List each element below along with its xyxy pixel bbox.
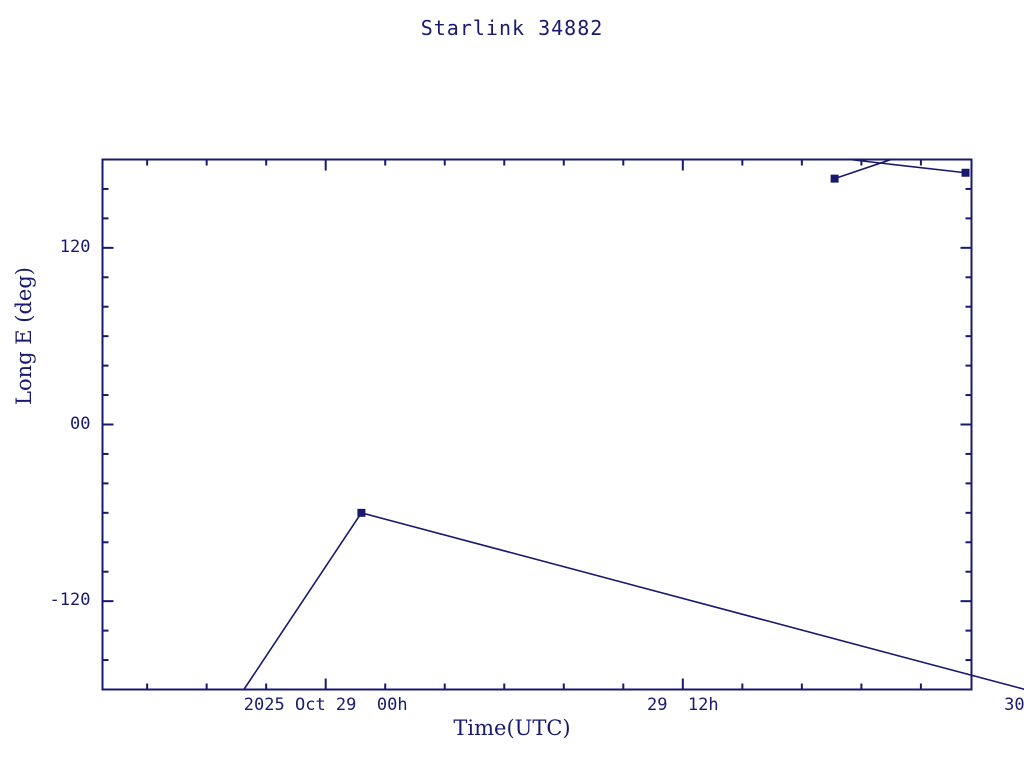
- x-tick-label: 2025 Oct 29 00h: [176, 695, 476, 715]
- y-tick-label: -120: [50, 590, 91, 610]
- data-series-longitude: [244, 160, 1024, 690]
- x-tick-label: 30 00h: [890, 695, 1024, 715]
- chart-plot-area: [0, 0, 1024, 768]
- y-tick-label: 00: [70, 414, 90, 434]
- chart-canvas: Starlink 34882 Time(UTC) Long E (deg) 12…: [0, 0, 1024, 768]
- y-axis-title: Long E (deg): [12, 226, 36, 446]
- x-tick-label: 29 12h: [533, 695, 833, 715]
- y-tick-label: 120: [60, 237, 91, 257]
- data-point-markers: [358, 169, 969, 516]
- x-axis-title: Time(UTC): [0, 716, 1024, 740]
- plot-frame: [103, 160, 972, 690]
- axis-ticks: [103, 160, 1024, 690]
